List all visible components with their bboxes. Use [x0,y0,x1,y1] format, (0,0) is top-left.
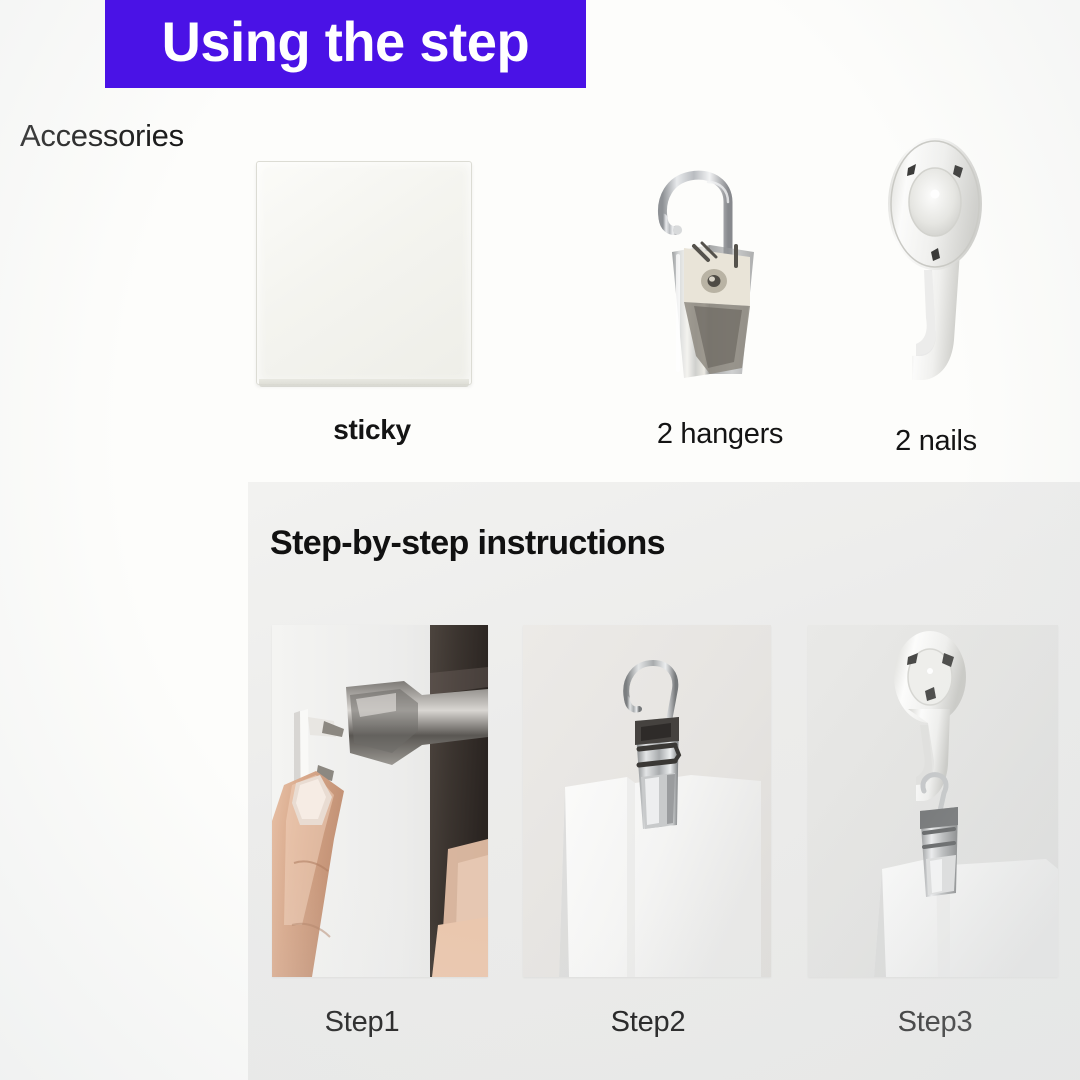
product-instruction-infographic: Using the step Accessories sticky [0,0,1080,1080]
adhesive-pad-icon [256,161,472,385]
accessories-section-label: Accessories [20,118,184,154]
accessory-caption-nails: 2 nails [786,425,1080,458]
page-title: Using the step [162,14,529,70]
step-3-photo [808,625,1058,977]
step-2-caption: Step2 [528,1006,768,1039]
accessory-caption-sticky: sticky [222,414,522,446]
title-banner: Using the step [105,0,586,88]
step-1-photo [272,625,488,977]
hanger-clip-icon [650,106,790,384]
step-2-photo [523,625,771,977]
instructions-heading: Step-by-step instructions [270,524,665,563]
step-1-caption: Step1 [242,1006,482,1039]
wall-hook-nail-icon [880,132,990,388]
step-3-caption: Step3 [815,1006,1055,1039]
